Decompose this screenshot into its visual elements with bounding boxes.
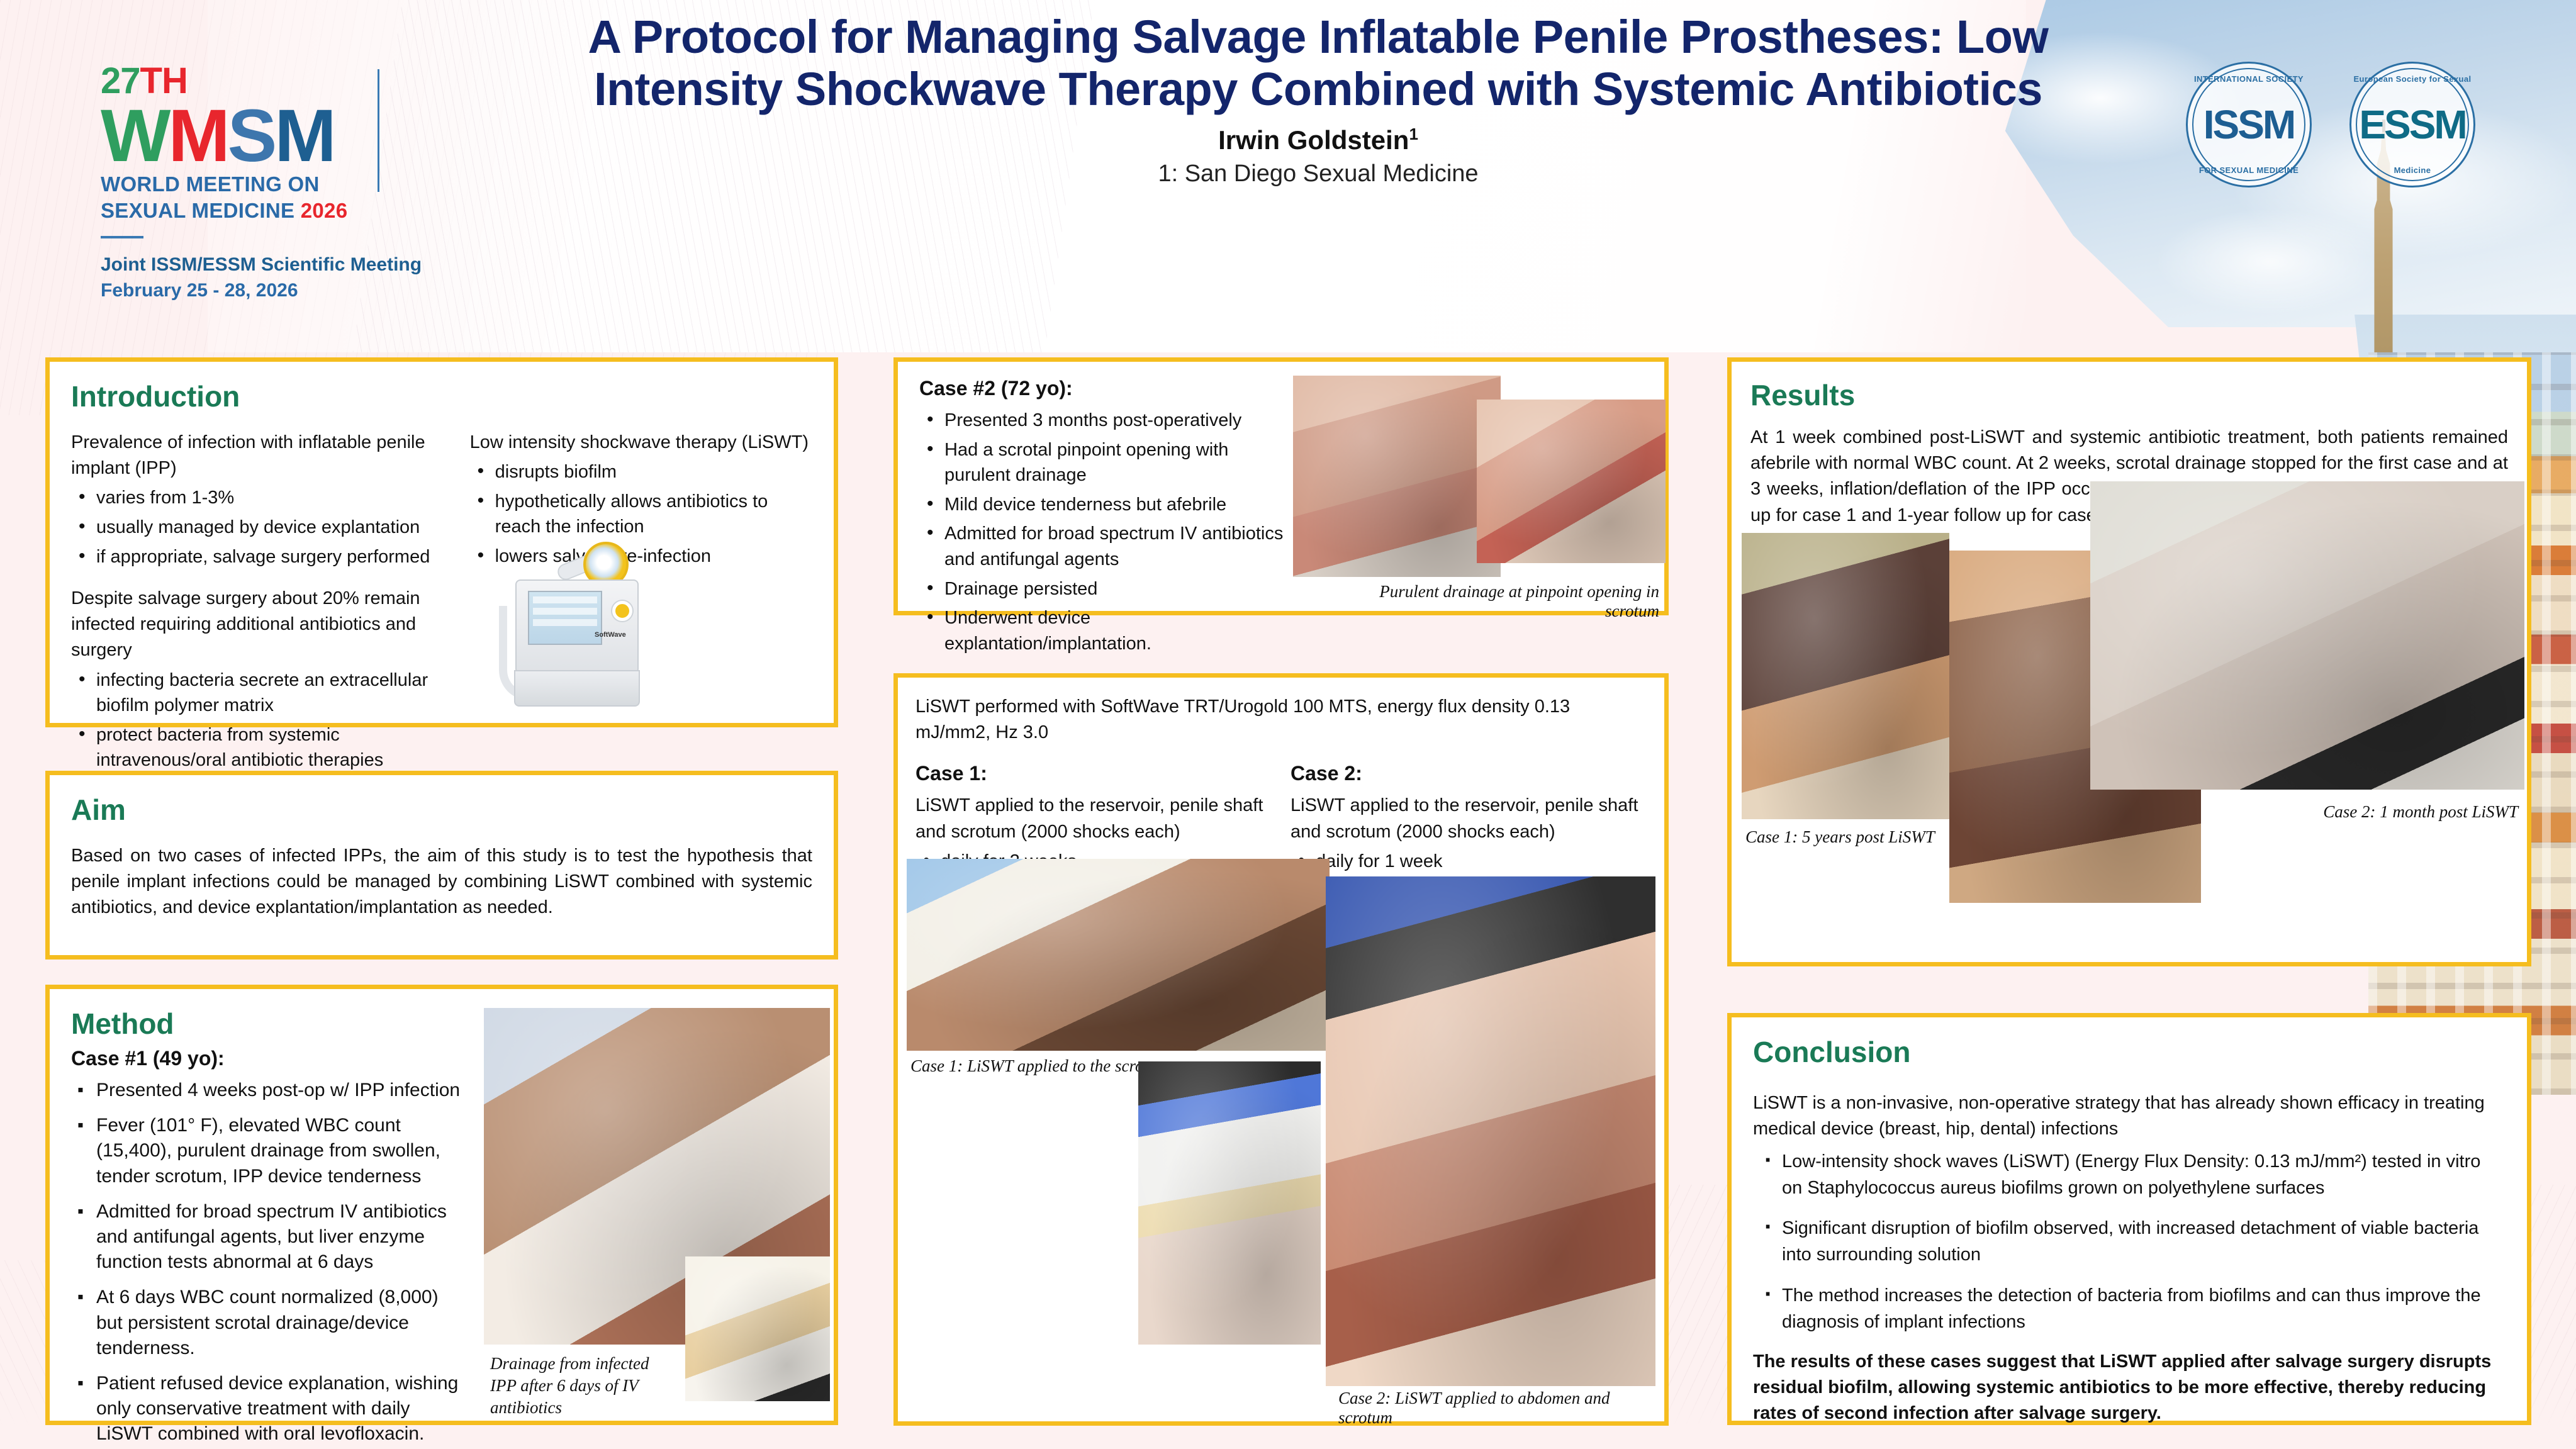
method-bullets: Presented 4 weeks post-op w/ IPP infecti… (71, 1078, 464, 1446)
method-photo-gauze (685, 1256, 830, 1401)
logo-line2: SEXUAL MEDICINE 2026 (101, 198, 466, 224)
list-item: Mild device tenderness but afebrile (919, 492, 1297, 518)
device-base (514, 670, 640, 707)
conclusion-lead-text: LiSWT is a non-invasive, non-operative s… (1753, 1090, 2506, 1142)
case2-photo-left (1293, 376, 1501, 577)
poster-header: A Protocol for Managing Salvage Inflatab… (585, 11, 2051, 187)
poster-root: 27TH WMSM WORLD MEETING ON SEXUAL MEDICI… (0, 0, 2576, 1449)
author-affiliation: 1: San Diego Sexual Medicine (585, 160, 2051, 187)
list-item: protect bacteria from systemic intraveno… (71, 722, 442, 773)
protocol-caption-case1: Case 1: LiSWT applied to the scrotum (910, 1056, 1169, 1076)
logo-vertical-divider (378, 69, 379, 192)
list-item: if appropriate, salvage surgery performe… (71, 544, 442, 570)
introduction-salvage-text: Despite salvage surgery about 20% remain… (71, 586, 442, 664)
protocol-case2-text: LiSWT applied to the reservoir, penile s… (1291, 793, 1647, 844)
protocol-caption-case2: Case 2: LiSWT applied to abdomen and scr… (1338, 1389, 1664, 1428)
conclusion-heading: Conclusion (1753, 1035, 2506, 1069)
protocol-case1-title: Case 1: (916, 762, 1272, 785)
list-item: daily for 1 week (1291, 849, 1647, 875)
list-item: Presented 4 weeks post-op w/ IPP infecti… (71, 1078, 464, 1103)
case2-title: Case #2 (72 yo): (919, 377, 1297, 400)
results-heading: Results (1750, 378, 2508, 412)
list-item: Admitted for broad spectrum IV antibioti… (919, 521, 1297, 572)
introduction-bullets-1: varies from 1-3% usually managed by devi… (71, 485, 442, 569)
logo-acronym: WMSM (101, 101, 466, 171)
logo-dates: February 25 - 28, 2026 (101, 280, 466, 301)
results-photo-case1 (1742, 533, 1949, 819)
case2-photo-right (1477, 400, 1666, 563)
device-brand-label: SoftWave (595, 631, 626, 639)
softwave-device-image: SoftWave (478, 530, 666, 719)
list-item: usually managed by device explantation (71, 515, 442, 540)
method-text-column: Case #1 (49 yo): Presented 4 weeks post-… (71, 1047, 464, 1446)
logo-rule (101, 236, 143, 238)
protocol-photo-case1-scrotum (907, 859, 1330, 1051)
conclusion-bullets: Low-intensity shock waves (LiSWT) (Energ… (1753, 1148, 2506, 1334)
method-panel: Method Case #1 (49 yo): Presented 4 week… (45, 985, 838, 1425)
device-power-knob-icon (612, 601, 632, 621)
method-photo-caption: Drainage from infected IPP after 6 days … (490, 1353, 679, 1419)
introduction-left-column: Prevalence of infection with inflatable … (71, 430, 442, 777)
method-case-title: Case #1 (49 yo): (71, 1047, 464, 1070)
list-item: infecting bacteria secrete an extracellu… (71, 668, 442, 719)
list-item: Fever (101° F), elevated WBC count (15,4… (71, 1113, 464, 1189)
case2-text-column: Case #2 (72 yo): Presented 3 months post… (919, 377, 1297, 656)
protocol-intro-text: LiSWT performed with SoftWave TRT/Urogol… (916, 694, 1647, 746)
list-item: Significant disruption of biofilm observ… (1753, 1215, 2506, 1268)
list-item: Had a scrotal pinpoint opening with puru… (919, 437, 1297, 488)
case2-bullets: Presented 3 months post-operatively Had … (919, 408, 1297, 656)
case2-photo-caption: Purulent drainage at pinpoint opening in… (1332, 582, 1659, 621)
list-item: The method increases the detection of ba… (1753, 1282, 2506, 1335)
list-item: Drainage persisted (919, 576, 1297, 602)
protocol-photo-case2-applicator (1138, 1061, 1321, 1345)
logo-line1: WORLD MEETING ON (101, 171, 466, 198)
protocol-case2-title: Case 2: (1291, 762, 1647, 785)
aim-text: Based on two cases of infected IPPs, the… (71, 843, 812, 921)
list-item: varies from 1-3% (71, 485, 442, 511)
introduction-bullets-2: infecting bacteria secrete an extracellu… (71, 668, 442, 773)
conclusion-closing-statement: The results of these cases suggest that … (1753, 1349, 2506, 1427)
results-caption-case2: Case 2: 1 month post LiSWT (2285, 802, 2518, 822)
protocol-panel: LiSWT performed with SoftWave TRT/Urogol… (893, 673, 1669, 1426)
issm-bottom-text: FOR SEXUAL MEDICINE (2186, 165, 2312, 175)
introduction-panel: Introduction Prevalence of infection wit… (45, 357, 838, 727)
essm-bottom-text: Medicine (2349, 165, 2475, 175)
results-caption-case1: Case 1: 5 years post LiSWT (1745, 827, 1935, 847)
introduction-liswt-text: Low intensity shockwave therapy (LiSWT) (470, 430, 812, 456)
author-name: Irwin Goldstein1 (585, 125, 2051, 155)
case2-panel: Case #2 (72 yo): Presented 3 months post… (893, 357, 1669, 615)
list-item: Underwent device explantation/implantati… (919, 605, 1297, 656)
introduction-prevalence-text: Prevalence of infection with inflatable … (71, 430, 442, 481)
list-item: Admitted for broad spectrum IV antibioti… (71, 1199, 464, 1275)
page-title: A Protocol for Managing Salvage Inflatab… (585, 11, 2051, 116)
wmsm-conference-logo: 27TH WMSM WORLD MEETING ON SEXUAL MEDICI… (101, 63, 466, 301)
results-photo-case2 (2090, 481, 2524, 790)
introduction-heading: Introduction (71, 379, 812, 413)
logo-joint-meeting: Joint ISSM/ESSM Scientific Meeting (101, 252, 466, 278)
list-item: disrupts biofilm (470, 459, 812, 485)
protocol-photo-case2-abdomen (1326, 876, 1655, 1386)
protocol-case1-text: LiSWT applied to the reservoir, penile s… (916, 793, 1272, 844)
conclusion-panel: Conclusion LiSWT is a non-invasive, non-… (1727, 1013, 2531, 1425)
results-panel: Results At 1 week combined post-LiSWT an… (1727, 357, 2531, 966)
list-item: Patient refused device explanation, wish… (71, 1371, 464, 1447)
list-item: At 6 days WBC count normalized (8,000) b… (71, 1285, 464, 1361)
list-item: Presented 3 months post-operatively (919, 408, 1297, 434)
essm-logo: European Society for Sexual ESSM Medicin… (2349, 62, 2475, 187)
aim-panel: Aim Based on two cases of infected IPPs,… (45, 771, 838, 959)
society-logo-group: INTERNATIONAL SOCIETY ISSM FOR SEXUAL ME… (2186, 62, 2475, 187)
list-item: Low-intensity shock waves (LiSWT) (Energ… (1753, 1148, 2506, 1201)
aim-heading: Aim (71, 793, 812, 827)
device-screen (528, 591, 602, 645)
issm-logo: INTERNATIONAL SOCIETY ISSM FOR SEXUAL ME… (2186, 62, 2312, 187)
